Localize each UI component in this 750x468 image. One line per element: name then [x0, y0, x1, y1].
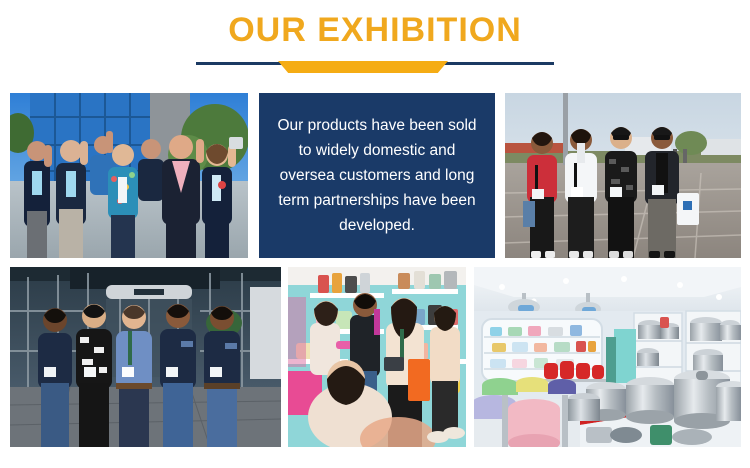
photo-five-men-entrance[interactable]: [10, 267, 281, 447]
photo-image: [288, 267, 466, 447]
section-header: OUR EXHIBITION: [0, 0, 750, 93]
exhibition-section: OUR EXHIBITION: [0, 0, 750, 468]
statement-panel: Our products have been sold to widely do…: [259, 93, 495, 258]
statement-text: Our products have been sold to widely do…: [259, 113, 495, 238]
photo-image: [10, 267, 281, 447]
title-divider: [0, 58, 750, 78]
photo-booth-visitors[interactable]: [288, 267, 466, 447]
photo-image: [505, 93, 741, 258]
gallery-top-row: Our products have been sold to widely do…: [0, 93, 750, 258]
photo-four-men-pavement[interactable]: [505, 93, 741, 258]
page-title: OUR EXHIBITION: [0, 10, 750, 50]
divider-trapezoid-accent: [278, 61, 448, 73]
photo-group-outdoor-conference[interactable]: [10, 93, 248, 258]
photo-image: [10, 93, 248, 258]
photo-image: [474, 267, 741, 447]
gallery-bottom-row: [0, 267, 750, 447]
photo-cookware-showroom[interactable]: [474, 267, 741, 447]
statement-box: Our products have been sold to widely do…: [259, 93, 495, 258]
